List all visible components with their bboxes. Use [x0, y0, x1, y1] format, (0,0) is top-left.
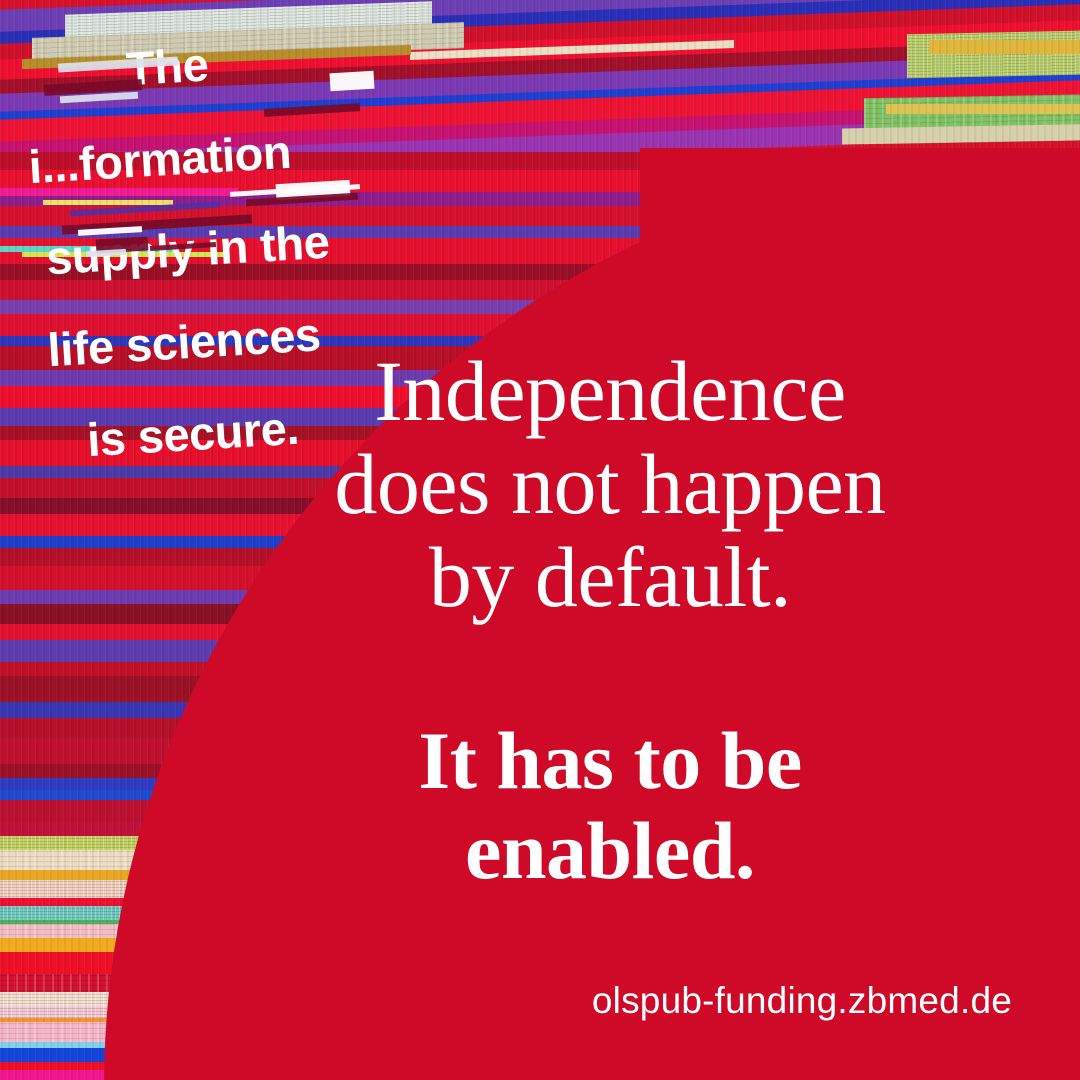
glitch-texture	[907, 30, 1080, 79]
quote-line-light-3: by default.	[250, 531, 970, 624]
quote-line-light-2: does not happen	[250, 438, 970, 531]
social-card: The i...formation supply in the life sci…	[0, 0, 1080, 1080]
headline-line-3: supply in the	[45, 216, 385, 282]
glitch-data-panel	[929, 40, 1080, 54]
headline-line-1: The	[125, 32, 374, 93]
quote-block: Independence does not happen by default.…	[250, 345, 970, 896]
glitch-data-panel	[907, 30, 1080, 79]
quote-line-light-1: Independence	[250, 345, 970, 438]
headline-line-2: i...formation	[27, 124, 379, 191]
quote-line-bold-2: enabled.	[250, 806, 970, 896]
glitch-data-panel	[886, 104, 1080, 114]
website-url[interactable]: olspub-funding.zbmed.de	[592, 980, 1012, 1022]
quote-line-bold-1: It has to be	[250, 716, 970, 806]
